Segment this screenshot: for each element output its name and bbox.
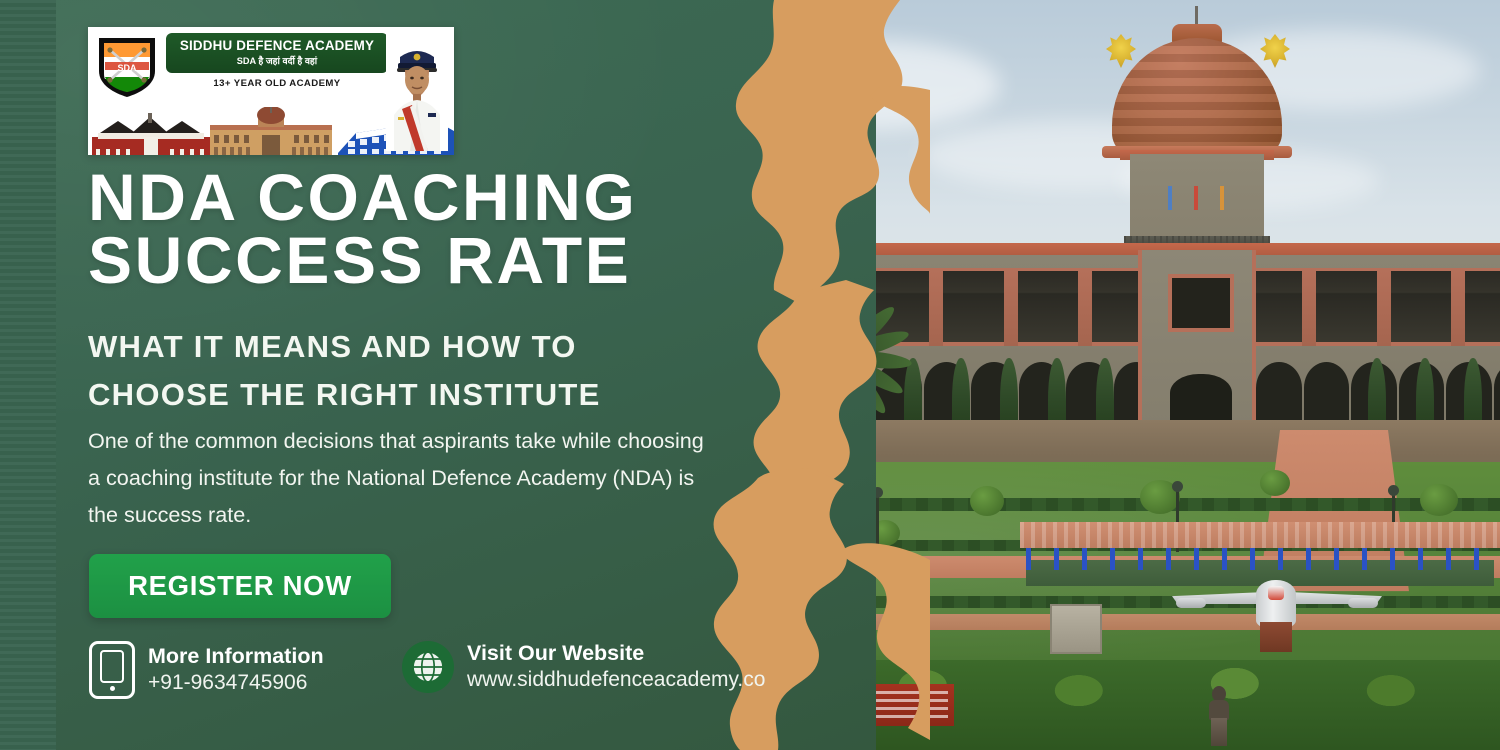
cadet-photo	[386, 31, 448, 151]
academy-tagline-hindi: SDA है जहां वर्दी है वहां	[237, 54, 317, 67]
lamp-post	[876, 496, 879, 558]
cypress-tree	[1000, 358, 1018, 428]
headline-line-1: NDA COACHING	[88, 166, 788, 229]
subheadline-line-1: WHAT IT MEANS AND HOW TO	[88, 323, 748, 371]
academy-name: SIDDHU DEFENCE ACADEMY	[180, 38, 374, 53]
contact-phone-text: More Information +91-9634745906	[148, 644, 324, 696]
mobile-phone-icon	[89, 641, 135, 699]
bust-statue	[1208, 686, 1230, 746]
academy-building-ima	[92, 111, 210, 155]
academy-building-nda	[210, 107, 332, 155]
academy-name-plate: SIDDHU DEFENCE ACADEMY SDA है जहां वर्दी…	[166, 33, 388, 73]
dome-finial	[1195, 6, 1198, 26]
contact-phone-number[interactable]: +91-9634745906	[148, 671, 324, 696]
subheadline-line-2: CHOOSE THE RIGHT INSTITUTE	[88, 371, 748, 419]
headline-line-2: SUCCESS RATE	[88, 229, 788, 292]
contact-website-text: Visit Our Website www.siddhudefenceacade…	[467, 641, 765, 693]
contact-phone-title: More Information	[148, 644, 324, 669]
globe-icon	[402, 641, 454, 693]
balustrade	[1020, 522, 1500, 548]
contact-phone[interactable]: More Information +91-9634745906	[89, 641, 324, 699]
svg-text:SDA: SDA	[117, 63, 137, 73]
promotional-banner: SDA SIDDHU DEFENCE ACADEMY SDA है जहां व…	[0, 0, 1500, 750]
shrub	[1420, 484, 1458, 516]
blue-fence	[1026, 548, 1494, 570]
page-title: NDA COACHING SUCCESS RATE	[88, 166, 788, 293]
flag	[1168, 186, 1172, 210]
contact-website-title: Visit Our Website	[467, 641, 765, 666]
memorial-plaque	[1050, 604, 1102, 654]
page-subtitle: WHAT IT MEANS AND HOW TO CHOOSE THE RIGH…	[88, 323, 748, 420]
cypress-tree	[1464, 358, 1482, 428]
academy-logo-card[interactable]: SDA SIDDHU DEFENCE ACADEMY SDA है जहां व…	[88, 27, 454, 155]
contact-website[interactable]: Visit Our Website www.siddhudefenceacade…	[402, 641, 765, 693]
experience-tagline: 13+ YEAR OLD ACADEMY	[166, 78, 388, 89]
register-now-button[interactable]: REGISTER NOW	[89, 554, 391, 618]
cypress-tree	[952, 358, 970, 428]
cypress-tree	[1416, 358, 1434, 428]
cypress-tree	[1048, 358, 1066, 428]
left-accent-stripe	[0, 0, 56, 750]
shrub	[1260, 470, 1290, 496]
flag	[1194, 186, 1198, 210]
central-portico	[1138, 250, 1256, 430]
shrub	[970, 486, 1004, 516]
flag	[1220, 186, 1224, 210]
shield-crossed-swords-icon: SDA	[96, 35, 158, 99]
contact-website-url[interactable]: www.siddhudefenceacademy.co	[467, 668, 765, 693]
cypress-tree	[1096, 358, 1114, 428]
jet-aircraft-memorial	[1172, 576, 1382, 628]
body-description: One of the common decisions that aspiran…	[88, 422, 708, 533]
portico-window	[1168, 274, 1234, 332]
cypress-tree	[1368, 358, 1386, 428]
